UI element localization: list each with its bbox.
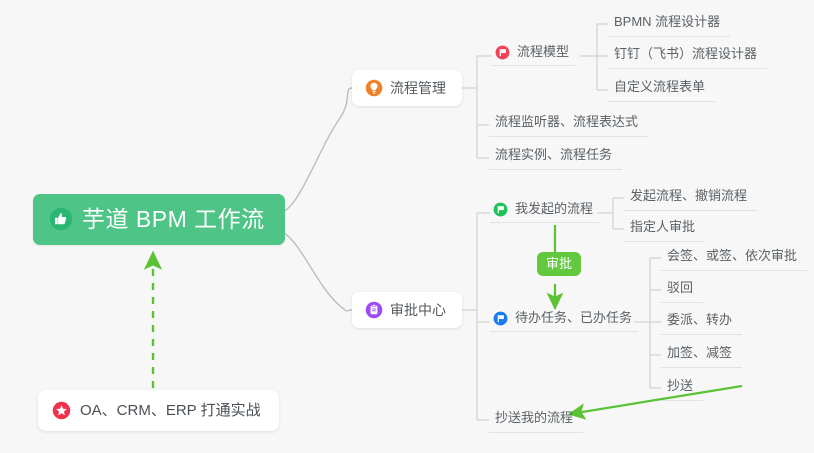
node-label-add-remove-sign: 加签、减签	[667, 345, 732, 360]
node-label-bpmn-designer: BPMN 流程设计器	[614, 14, 720, 29]
node-start-cancel-process[interactable]: 发起流程、撤销流程	[624, 184, 757, 211]
arrow-cc-to-ccme	[570, 386, 742, 414]
node-reject[interactable]: 驳回	[661, 276, 703, 303]
node-assignee-approval[interactable]: 指定人审批	[624, 215, 705, 242]
node-label-process-instance: 流程实例、流程任务	[495, 147, 612, 162]
annotation-approval-chip: 审批	[537, 252, 581, 276]
node-my-started-processes[interactable]: 我发起的流程	[490, 199, 599, 223]
node-label-cc: 抄送	[667, 378, 693, 393]
flag-icon	[493, 311, 508, 326]
root-node[interactable]: 芋道 BPM 工作流	[33, 194, 285, 245]
node-label-custom-process-form: 自定义流程表单	[614, 79, 705, 94]
node-label-todo-done-tasks: 待办任务、已办任务	[515, 311, 632, 326]
node-dingtalk-feishu-designer[interactable]: 钉钉（飞书）流程设计器	[608, 42, 767, 69]
node-countersign[interactable]: 会签、或签、依次审批	[661, 244, 807, 271]
node-label-cc-to-me: 抄送我的流程	[495, 410, 573, 425]
node-label-process-listener: 流程监听器、流程表达式	[495, 114, 638, 129]
node-label-delegate-transfer: 委派、转办	[667, 312, 732, 327]
node-todo-done-tasks[interactable]: 待办任务、已办任务	[490, 308, 638, 332]
node-bpmn-designer[interactable]: BPMN 流程设计器	[608, 10, 730, 37]
clipboard-icon	[365, 301, 383, 319]
node-label-assignee-approval: 指定人审批	[630, 219, 695, 234]
node-cc-to-me[interactable]: 抄送我的流程	[489, 406, 583, 433]
branch-node-process-management[interactable]: 流程管理	[352, 70, 462, 106]
node-process-listener[interactable]: 流程监听器、流程表达式	[489, 110, 648, 137]
node-delegate-transfer[interactable]: 委派、转办	[661, 308, 742, 335]
node-label-process-model: 流程模型	[517, 45, 569, 60]
lightbulb-icon	[365, 79, 383, 97]
node-label-start-cancel-process: 发起流程、撤销流程	[630, 188, 747, 203]
branch-node-approval-center[interactable]: 审批中心	[352, 292, 462, 328]
node-add-remove-sign[interactable]: 加签、减签	[661, 341, 742, 368]
mindmap-canvas: 芋道 BPM 工作流 流程管理 流程模型 BPMN 流程设计器 钉钉（飞书	[0, 0, 814, 453]
node-process-model[interactable]: 流程模型	[492, 42, 575, 66]
callout-node-integration-practice[interactable]: OA、CRM、ERP 打通实战	[38, 390, 279, 431]
branch-label-process-management: 流程管理	[390, 81, 446, 95]
node-cc[interactable]: 抄送	[661, 374, 703, 401]
callout-label-integration-practice: OA、CRM、ERP 打通实战	[80, 403, 261, 418]
thumbs-up-icon	[49, 207, 73, 231]
node-label-countersign: 会签、或签、依次审批	[667, 248, 797, 263]
node-process-instance[interactable]: 流程实例、流程任务	[489, 143, 622, 170]
node-label-reject: 驳回	[667, 280, 693, 295]
node-custom-process-form[interactable]: 自定义流程表单	[608, 75, 715, 102]
flag-icon	[493, 202, 508, 217]
root-label: 芋道 BPM 工作流	[82, 208, 265, 231]
node-label-dingtalk-feishu-designer: 钉钉（飞书）流程设计器	[614, 46, 757, 61]
link-root-to-process-management	[282, 88, 352, 212]
branch-label-approval-center: 审批中心	[390, 303, 446, 317]
link-root-to-approval-center	[282, 232, 352, 311]
node-label-my-started-processes: 我发起的流程	[515, 202, 593, 217]
flag-icon	[495, 45, 510, 60]
star-icon	[52, 401, 71, 420]
